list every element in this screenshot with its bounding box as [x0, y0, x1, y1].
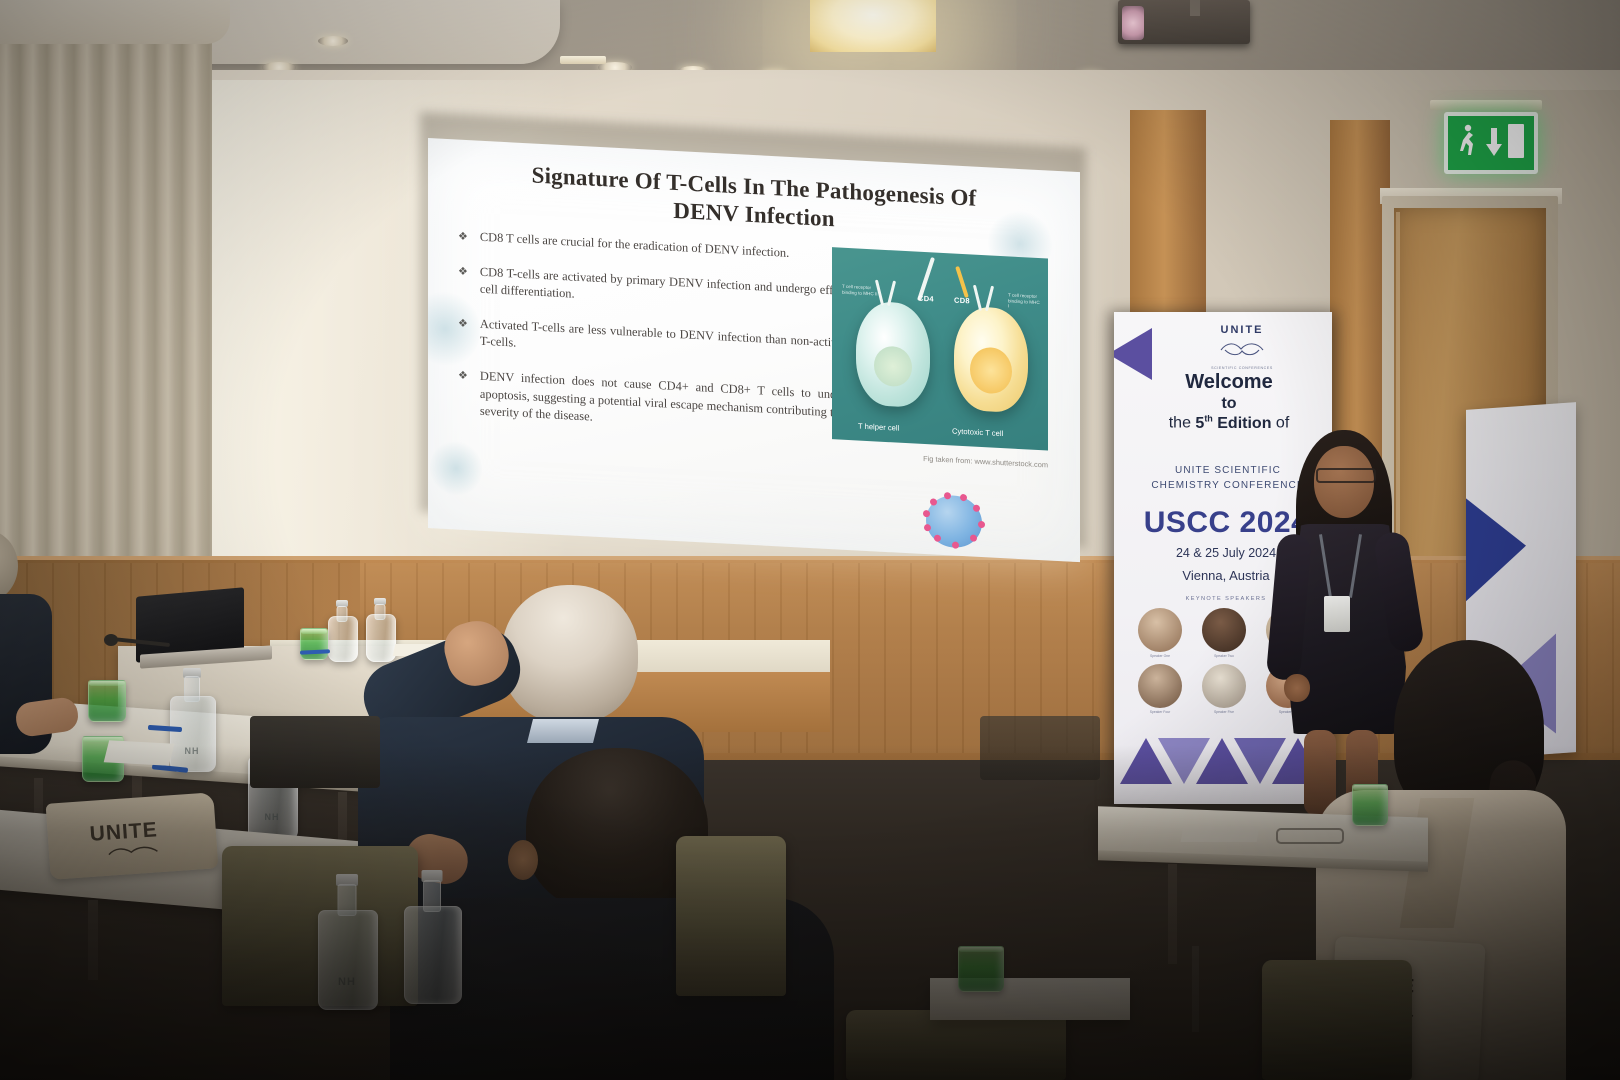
head	[502, 585, 638, 723]
slide-bullet-item: ❖ CD8 T-cells are activated by primary D…	[458, 262, 858, 318]
chair	[846, 1010, 1066, 1080]
bottle-brand-mark: NH	[185, 746, 200, 756]
projector-lens	[1122, 6, 1144, 40]
eyeglasses-icon	[1276, 828, 1344, 844]
speaker-card: Speaker Five	[1196, 664, 1252, 714]
welcome-edition-number: 5	[1195, 415, 1204, 432]
speaker-card: Speaker One	[1132, 608, 1188, 658]
welcome-post: of	[1271, 415, 1289, 432]
banner-logo: UNITE SCIENTIFIC CONFERENCES	[1188, 324, 1296, 370]
projection-screen: Signature Of T-Cells In The Pathogenesis…	[428, 138, 1080, 562]
exit-sign-bracket	[1430, 100, 1542, 110]
slide-bullet-item: ❖ CD8 T cells are crucial for the eradic…	[458, 228, 858, 267]
speaker-avatar	[1138, 664, 1182, 708]
notepad	[104, 740, 175, 765]
ear	[508, 840, 538, 880]
drinking-glass	[1352, 784, 1388, 826]
shirt-collar	[527, 719, 599, 743]
handshake-icon	[1219, 338, 1265, 360]
bullet-diamond-icon: ❖	[458, 314, 468, 350]
banner-welcome-block: Welcome to the 5th Edition of	[1126, 370, 1332, 433]
cytotoxic-t-cell-illustration	[954, 306, 1028, 414]
mhc-molecule	[955, 266, 969, 298]
slide-watermark	[430, 438, 482, 499]
mic-stand	[1192, 946, 1199, 1032]
speaker-card: Speaker Two	[1196, 608, 1252, 658]
cd8-label: CD8	[954, 296, 970, 306]
speaker-name: Speaker Two	[1196, 654, 1252, 658]
cytotoxic-t-cell-caption: Cytotoxic T cell	[952, 426, 1003, 438]
water-bottle: NH	[170, 668, 214, 772]
welcome-ordinal-suffix: th	[1204, 413, 1213, 423]
t-helper-cell-illustration	[856, 300, 930, 408]
stacked-chair	[980, 716, 1100, 780]
virus-particle-illustration	[926, 494, 982, 549]
welcome-pre: the	[1169, 415, 1196, 432]
banner-triangle-decor	[1466, 486, 1526, 611]
bottle-brand-mark: NH	[265, 812, 280, 822]
exit-door-glyph	[1508, 124, 1524, 158]
receptor-annotation-right: T cell receptor binding to MHC I	[1008, 292, 1042, 311]
t-helper-cell-caption: T helper cell	[858, 422, 899, 433]
bullet-text: CD8 T cells are crucial for the eradicat…	[480, 229, 789, 263]
bullet-text: CD8 T-cells are activated by primary DEN…	[480, 263, 858, 318]
drinking-glass	[958, 946, 1004, 992]
hand	[1284, 674, 1310, 702]
down-arrow-icon	[1484, 126, 1504, 158]
bullet-diamond-icon: ❖	[458, 262, 468, 298]
stacked-chair	[250, 716, 380, 788]
slide-bullet-item: ❖ Activated T-cells are less vulnerable …	[458, 314, 858, 370]
cd4-label: CD4	[918, 294, 934, 304]
name-badge	[1324, 596, 1350, 632]
speaker-avatar	[1202, 664, 1246, 708]
receptor-stem	[973, 285, 982, 311]
projector-mount	[1190, 0, 1200, 16]
speaker-card: Speaker Four	[1132, 664, 1188, 714]
slide-bullet-list: ❖ CD8 T cells are crucial for the eradic…	[458, 228, 858, 458]
speaker-avatar	[1202, 608, 1246, 652]
table-leg	[88, 900, 98, 980]
receptor-annotation-left: T cell receptor binding to MHC II	[842, 284, 878, 297]
banner-welcome-line2: to	[1126, 394, 1332, 413]
bullet-text: DENV infection does not cause CD4+ and C…	[480, 368, 858, 441]
notepad	[1181, 826, 1260, 842]
curtain-rail-cover	[0, 0, 230, 44]
slide-bullet-item: ❖ DENV infection does not cause CD4+ and…	[458, 367, 858, 441]
conference-room-photo: Signature Of T-Cells In The Pathogenesis…	[0, 0, 1620, 1080]
banner-welcome-line1: Welcome	[1126, 370, 1332, 394]
figure-credit: Fig taken from: www.shutterstock.com	[832, 449, 1048, 469]
microphone-head	[104, 634, 118, 646]
t-cell-diagram: CD4 CD8 T cell receptor binding to MHC I…	[832, 247, 1048, 450]
banner-logo-name: UNITE	[1188, 324, 1296, 336]
welcome-edition-word: Edition	[1213, 415, 1272, 432]
ceiling-spotlight	[318, 36, 348, 46]
emergency-exit-sign	[1444, 112, 1538, 174]
speaker-name: Speaker One	[1132, 654, 1188, 658]
drinking-glass	[300, 628, 328, 660]
bullet-diamond-icon: ❖	[458, 367, 468, 420]
handshake-icon	[105, 842, 162, 864]
speaker-avatar	[1138, 608, 1182, 652]
eyeglasses-icon	[1316, 468, 1376, 483]
slide-title: Signature Of T-Cells In The Pathogenesis…	[474, 158, 1034, 244]
chair	[1262, 960, 1412, 1080]
water-bottle: NH	[318, 874, 376, 1010]
table-leg	[1168, 864, 1177, 964]
tote-bag: UNITE	[46, 792, 219, 880]
drinking-glass	[88, 680, 126, 722]
attendee-left-edge	[0, 530, 86, 780]
head	[0, 530, 18, 602]
running-person-icon	[1456, 124, 1478, 158]
ceiling-light-panel	[810, 0, 936, 52]
bottle-brand-mark: NH	[338, 976, 356, 988]
bullet-diamond-icon: ❖	[458, 228, 468, 246]
water-bottle	[404, 870, 460, 1004]
chair	[676, 836, 786, 996]
ceiling-light-panel-secondary	[560, 56, 606, 64]
bullet-text: Activated T-cells are less vulnerable to…	[480, 316, 858, 371]
